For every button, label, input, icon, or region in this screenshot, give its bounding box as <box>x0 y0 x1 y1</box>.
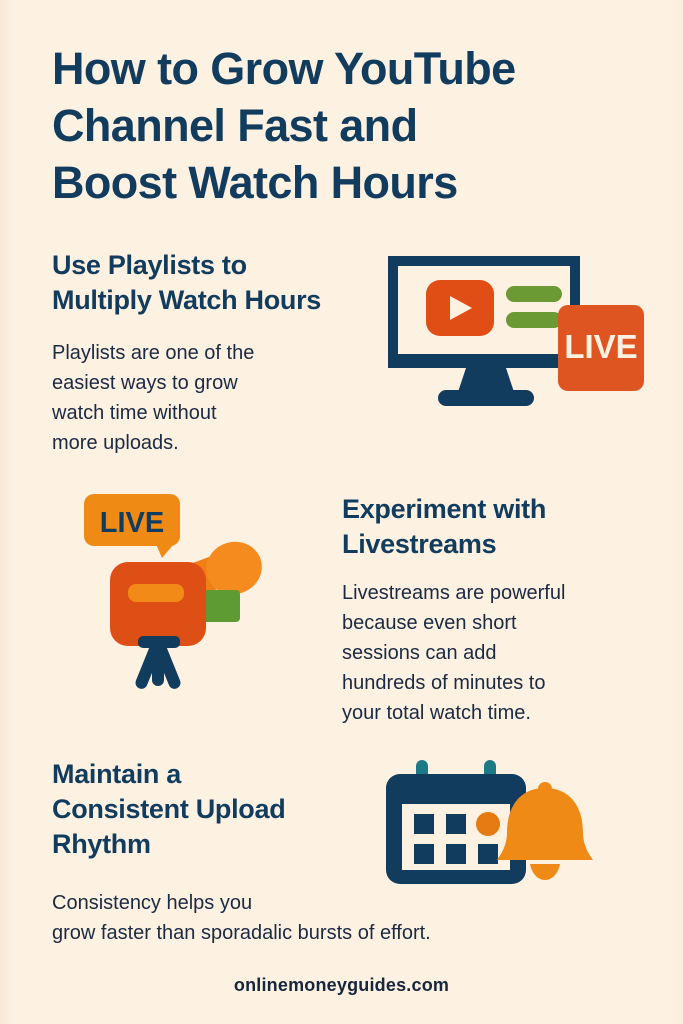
section-2-body-line-5: your total watch time. <box>342 698 652 728</box>
page-title-line-1: How to Grow YouTube <box>52 40 632 97</box>
section-3-body-line-1: Consistency helps you <box>52 888 652 918</box>
infographic-poster: How to Grow YouTube Channel Fast and Boo… <box>0 0 683 1024</box>
left-edge-band <box>0 0 14 1024</box>
section-2-body: Livestreams are powerful because even sh… <box>342 578 652 728</box>
calendar-bell-icon <box>380 760 610 890</box>
section-2-heading: Experiment with Livestreams <box>342 492 642 562</box>
section-3-heading-line-1: Maintain a <box>52 757 372 792</box>
section-1-body: Playlists are one of the easiest ways to… <box>52 338 352 458</box>
section-2-body-line-4: hundreds of minutes to <box>342 668 652 698</box>
section-1-body-line-3: watch time without <box>52 398 352 428</box>
section-2-body-line-2: because even short <box>342 608 652 638</box>
right-edge-band <box>671 0 683 1024</box>
page-title-line-2: Channel Fast and <box>52 97 632 154</box>
section-1-body-line-4: more uploads. <box>52 428 352 458</box>
section-2-heading-line-2: Livestreams <box>342 527 642 562</box>
monitor-live-badge-label: LIVE <box>564 328 637 365</box>
section-2-heading-line-1: Experiment with <box>342 492 642 527</box>
section-1-heading: Use Playlists to Multiply Watch Hours <box>52 248 382 318</box>
section-3-heading-line-2: Consistent Upload <box>52 792 372 827</box>
section-1-body-line-2: easiest ways to grow <box>52 368 352 398</box>
footer-website: onlinemoneyguides.com <box>0 975 683 996</box>
section-3-body: Consistency helps you grow faster than s… <box>52 888 652 948</box>
section-3-heading: Maintain a Consistent Upload Rhythm <box>52 757 372 862</box>
camera-live-bubble-label: LIVE <box>100 507 164 539</box>
page-title-line-3: Boost Watch Hours <box>52 154 632 211</box>
monitor-live-icon: LIVE <box>380 248 650 418</box>
video-camera-live-icon: LIVE <box>78 490 308 695</box>
section-1-heading-line-1: Use Playlists to <box>52 248 382 283</box>
section-2-body-line-3: sessions can add <box>342 638 652 668</box>
section-2-body-line-1: Livestreams are powerful <box>342 578 652 608</box>
section-1-body-line-1: Playlists are one of the <box>52 338 352 368</box>
page-title: How to Grow YouTube Channel Fast and Boo… <box>52 40 632 211</box>
section-1-heading-line-2: Multiply Watch Hours <box>52 283 382 318</box>
section-3-body-line-2: grow faster than sporadalic bursts of ef… <box>52 918 652 948</box>
section-3-heading-line-3: Rhythm <box>52 827 372 862</box>
